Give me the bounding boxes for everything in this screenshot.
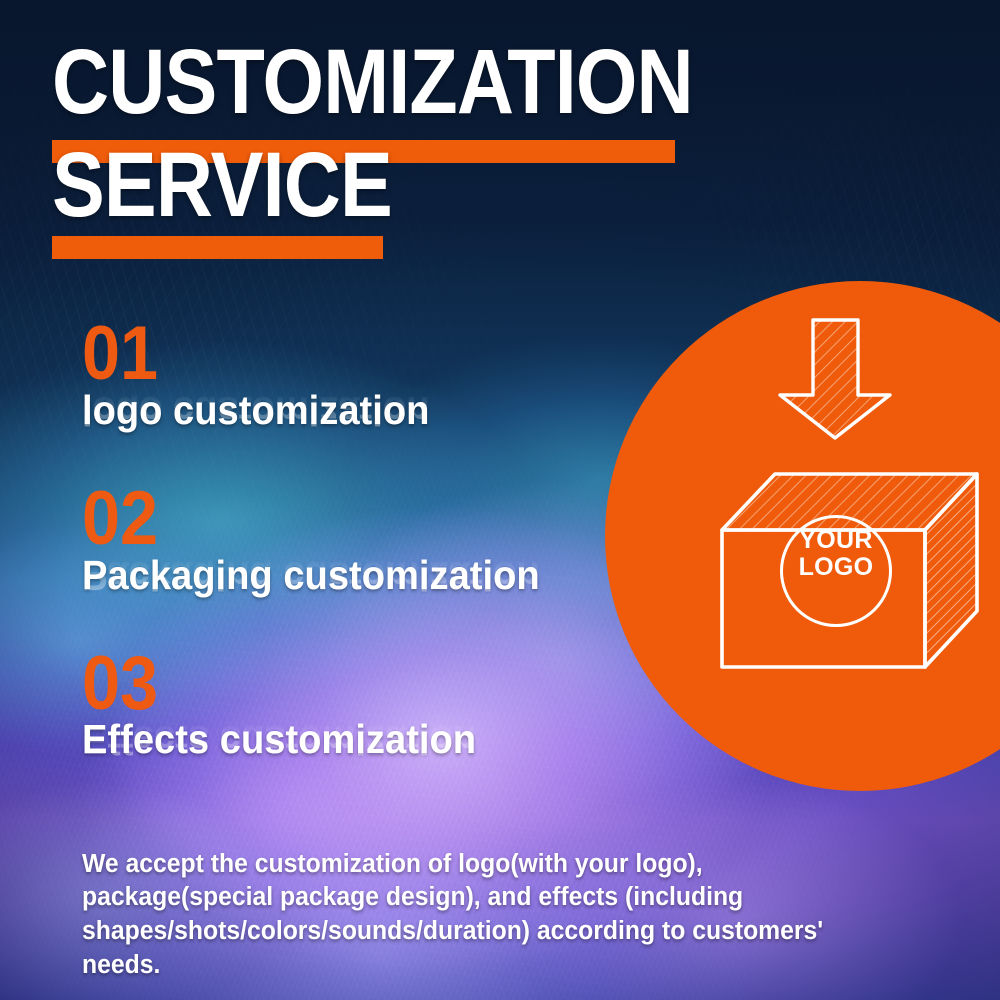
service-label-03: Effects customization (82, 719, 659, 760)
service-number-01: 01 (82, 322, 640, 386)
headline-line-1: CUSTOMIZATION (52, 40, 812, 125)
down-arrow-icon (780, 320, 890, 438)
service-number-02: 02 (82, 487, 640, 551)
service-label-02: Packaging customization (82, 555, 659, 596)
headline-underline-bar-2 (52, 236, 383, 259)
page-title: CUSTOMIZATION SERVICE (52, 40, 812, 227)
headline-line-1-text: CUSTOMIZATION (52, 40, 706, 125)
logo-placeholder-line-1: YOUR (799, 526, 872, 554)
customization-service-poster: CUSTOMIZATION SERVICE 01 logo customizat… (0, 0, 1000, 1000)
headline-line-2: SERVICE (52, 143, 812, 228)
logo-placeholder-line-2: LOGO (799, 553, 874, 581)
logo-placeholder-text: YOUR LOGO (780, 527, 892, 581)
headline-line-2-text: SERVICE (52, 143, 706, 228)
body-paragraph: We accept the customization of logo(with… (82, 848, 829, 984)
service-label-01: logo customization (82, 390, 659, 431)
service-number-03: 03 (82, 652, 640, 716)
